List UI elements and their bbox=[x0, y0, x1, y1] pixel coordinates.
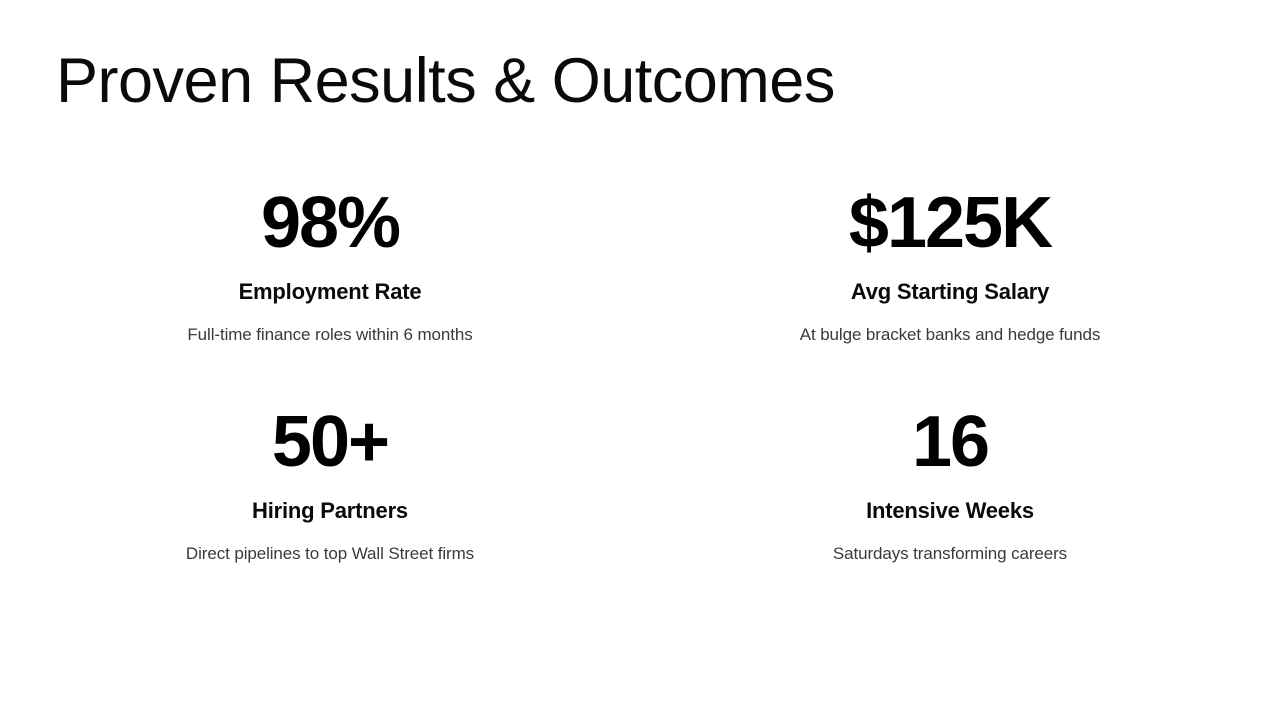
stat-card-intensive-weeks: 16 Intensive Weeks Saturdays transformin… bbox=[640, 404, 1260, 565]
stat-value: $125K bbox=[849, 185, 1051, 261]
stat-label: Employment Rate bbox=[239, 279, 422, 305]
page-title: Proven Results & Outcomes bbox=[56, 50, 835, 113]
stat-value: 16 bbox=[912, 404, 988, 480]
stat-description: At bulge bracket banks and hedge funds bbox=[800, 324, 1101, 346]
stat-value: 50+ bbox=[272, 404, 388, 480]
stat-label: Hiring Partners bbox=[252, 498, 408, 524]
stat-card-avg-starting-salary: $125K Avg Starting Salary At bulge brack… bbox=[640, 185, 1260, 346]
stats-grid: 98% Employment Rate Full-time finance ro… bbox=[20, 185, 1260, 565]
stat-card-hiring-partners: 50+ Hiring Partners Direct pipelines to … bbox=[20, 404, 640, 565]
slide-root: Proven Results & Outcomes 98% Employment… bbox=[0, 0, 1280, 720]
stat-card-employment-rate: 98% Employment Rate Full-time finance ro… bbox=[20, 185, 640, 346]
stat-description: Full-time finance roles within 6 months bbox=[187, 324, 472, 346]
stat-description: Direct pipelines to top Wall Street firm… bbox=[186, 543, 474, 565]
stat-description: Saturdays transforming careers bbox=[833, 543, 1067, 565]
stat-label: Intensive Weeks bbox=[866, 498, 1034, 524]
stat-value: 98% bbox=[261, 185, 399, 261]
stat-label: Avg Starting Salary bbox=[851, 279, 1049, 305]
